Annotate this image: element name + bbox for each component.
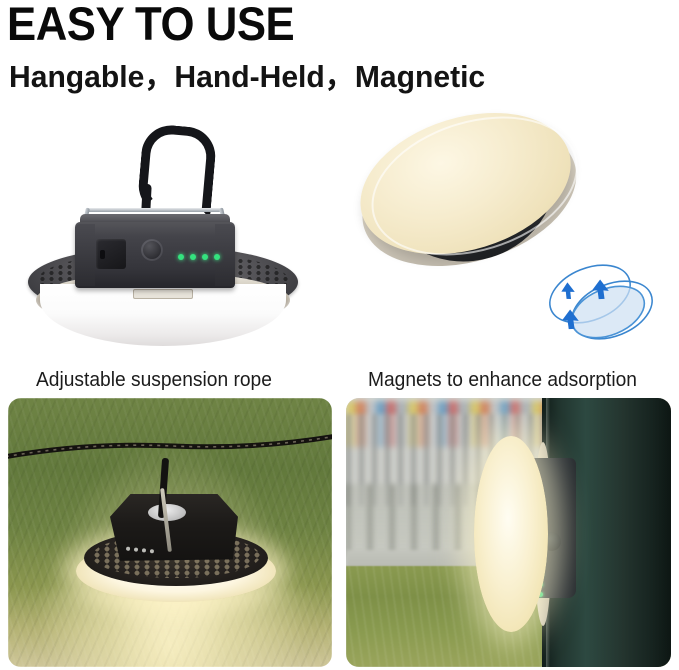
glowing-diffuser [474, 436, 548, 632]
led-dot [126, 547, 130, 551]
bail-crossbar [87, 208, 221, 212]
led-dot [134, 547, 138, 551]
led-indicators [178, 254, 220, 260]
magnet-field-graphic [528, 254, 668, 354]
led-dot [202, 254, 208, 260]
lantern-tilted-illustration [360, 116, 660, 351]
led-dot [142, 548, 146, 552]
photo-magnetic-mount [346, 398, 671, 667]
lantern-with-hook-illustration [28, 126, 298, 351]
hanging-chain [8, 432, 332, 436]
led-dot [178, 254, 184, 260]
product-render-magnetic [340, 110, 679, 355]
outdoor-scene [346, 398, 671, 667]
led-dot [150, 549, 154, 553]
caption-magnetic: Magnets to enhance adsorption [368, 368, 637, 392]
ring-label-plate [133, 289, 193, 299]
body-left-face [75, 224, 95, 286]
lantern-photo-subject [76, 486, 276, 614]
page-subtitle: Hangable，Hand-Held，Magnetic [9, 58, 485, 96]
led-dot [190, 254, 196, 260]
page-title: EASY TO USE [7, 0, 294, 50]
caption-hangable: Adjustable suspension rope [36, 368, 272, 392]
product-render-hangable [0, 110, 340, 355]
usb-port-cover [96, 239, 126, 269]
power-button [141, 239, 163, 261]
photo-hanging-lantern [8, 398, 332, 667]
led-dot [214, 254, 220, 260]
lantern-mounted-subject [474, 436, 584, 632]
